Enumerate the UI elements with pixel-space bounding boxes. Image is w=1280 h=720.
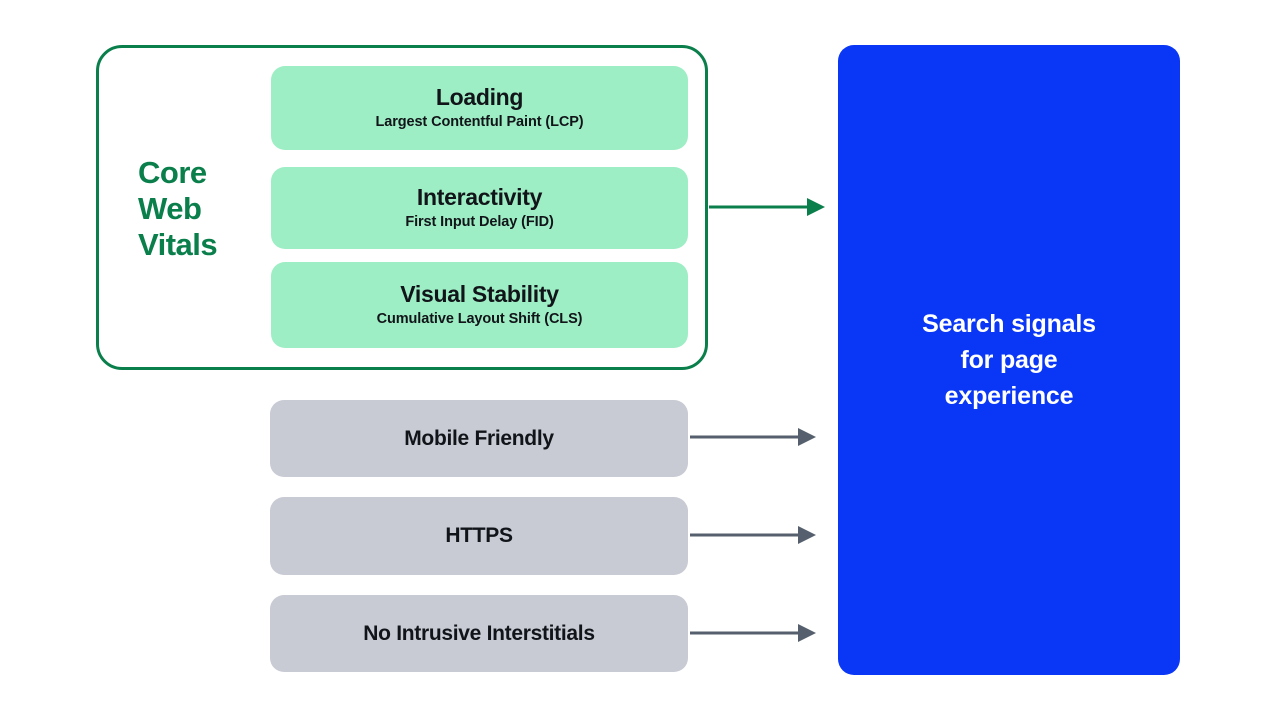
core-web-vitals-label-line-1: Core xyxy=(138,155,258,191)
core-web-vitals-label-line-3: Vitals xyxy=(138,227,258,263)
signal-card-https[interactable]: HTTPS xyxy=(270,497,688,575)
vital-subtitle: Largest Contentful Paint (LCP) xyxy=(375,112,583,132)
output-panel[interactable]: Search signals for page experience xyxy=(838,45,1180,675)
vital-title: Visual Stability xyxy=(400,281,558,308)
core-web-vitals-label: Core Web Vitals xyxy=(138,155,258,263)
vital-card-visual-stability[interactable]: Visual Stability Cumulative Layout Shift… xyxy=(271,262,688,348)
diagram-canvas: Core Web Vitals Loading Largest Contentf… xyxy=(0,0,1280,720)
core-web-vitals-label-line-2: Web xyxy=(138,191,258,227)
vital-card-interactivity[interactable]: Interactivity First Input Delay (FID) xyxy=(271,167,688,249)
signal-label: Mobile Friendly xyxy=(404,427,554,451)
vital-title: Loading xyxy=(436,84,523,111)
vital-subtitle: Cumulative Layout Shift (CLS) xyxy=(377,309,583,329)
vital-subtitle: First Input Delay (FID) xyxy=(405,212,553,232)
output-panel-text: Search signals for page experience xyxy=(922,306,1096,414)
signal-card-no-intrusive-interstitials[interactable]: No Intrusive Interstitials xyxy=(270,595,688,672)
signal-card-mobile-friendly[interactable]: Mobile Friendly xyxy=(270,400,688,477)
signal-label: No Intrusive Interstitials xyxy=(363,622,594,646)
signal-label: HTTPS xyxy=(445,524,512,548)
vital-card-loading[interactable]: Loading Largest Contentful Paint (LCP) xyxy=(271,66,688,150)
vital-title: Interactivity xyxy=(417,184,542,211)
